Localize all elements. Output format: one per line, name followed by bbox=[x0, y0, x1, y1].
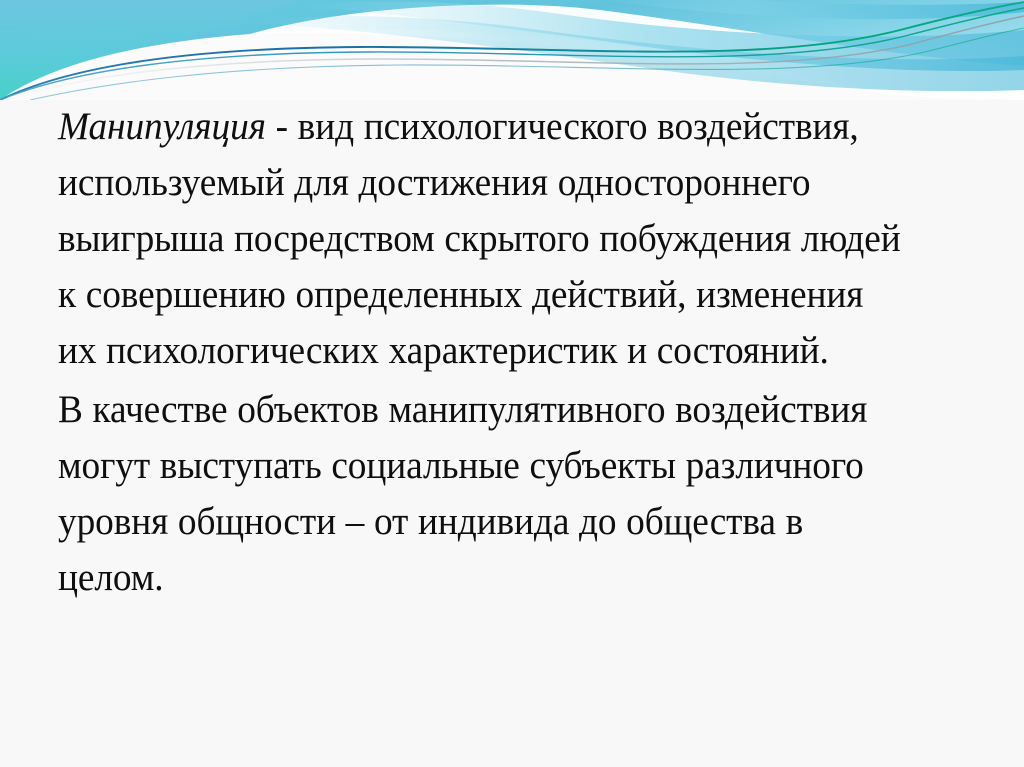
wave-banner bbox=[0, 0, 1024, 100]
slide-text-body: Манипуляция - вид психологического возде… bbox=[58, 98, 958, 605]
term-manipulation: Манипуляция bbox=[58, 104, 266, 148]
slide: Манипуляция - вид психологического возде… bbox=[0, 0, 1024, 767]
paragraph-definition: Манипуляция - вид психологического возде… bbox=[58, 98, 909, 378]
paragraph-objects: В качестве объектов манипулятивного возд… bbox=[58, 381, 909, 605]
